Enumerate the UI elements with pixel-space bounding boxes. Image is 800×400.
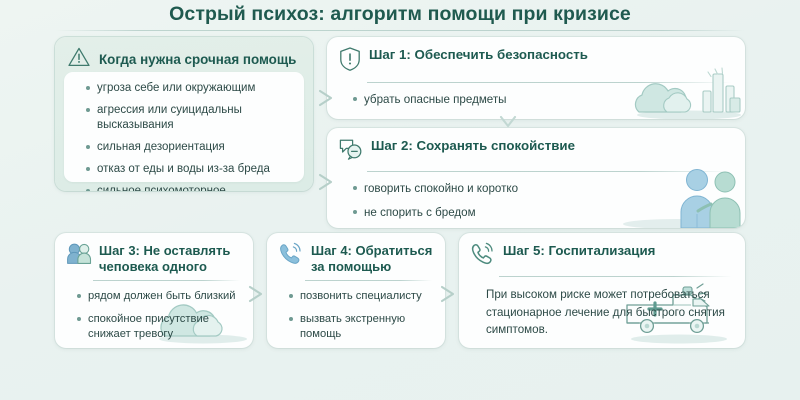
list-item: убрать опасные предметы <box>353 92 733 107</box>
urgent-help-panel: Когда нужна срочная помощь угроза себе и… <box>55 37 313 191</box>
arrow-step1-to-step2 <box>497 114 519 131</box>
list-item: угроза себе или окружающим <box>86 81 294 96</box>
list-item: ограничить доступ к окнам и лекарствам <box>353 116 733 119</box>
step1-title: Шаг 1: Обеспечить безопасность <box>369 46 588 63</box>
warning-triangle-icon <box>67 46 91 73</box>
step5-title: Шаг 5: Госпитализация <box>503 242 655 259</box>
phone-ringing-teal-icon <box>470 242 496 271</box>
step1-list: убрать опасные предметы ограничить досту… <box>327 83 745 119</box>
step2-list: говорить спокойно и коротко не спорить с… <box>327 172 745 228</box>
step4-card: Шаг 4: Обратиться за помощью позвонить с… <box>267 233 445 348</box>
arrow-urgent-to-step2 <box>316 172 340 192</box>
arrow-urgent-to-step1 <box>316 88 340 108</box>
step3-list: рядом должен быть близкий спокойное прис… <box>55 281 253 348</box>
list-item: рядом должен быть близкий <box>77 289 243 304</box>
arrow-step4-to-step5 <box>438 284 462 304</box>
step3-card: Шаг 3: Не оставлять чеповека одного рядо… <box>55 233 253 348</box>
urgent-help-list: угроза себе или окружающим агрессия или … <box>64 72 304 191</box>
step4-header: Шаг 4: Обратиться за помощью <box>267 233 445 280</box>
list-item: сильная дезориентация <box>86 140 294 155</box>
step2-card: Шаг 2: Сохранять спокойствие говорить сп… <box>327 128 745 228</box>
step5-header: Шаг 5: Госпитализация <box>459 233 745 276</box>
page-title: Острый психоз: алгоритм помощи при кризи… <box>0 3 800 26</box>
title-divider <box>55 30 745 31</box>
step4-title: Шаг 4: Обратиться за помощью <box>311 242 433 275</box>
step3-header: Шаг 3: Не оставлять чеповека одного <box>55 233 253 280</box>
arrow-step3-to-step4 <box>246 284 270 304</box>
list-item: говорить спокойно и коротко <box>353 181 733 196</box>
step1-card: Шаг 1: Обеспечить безопасность убрать оп… <box>327 37 745 119</box>
infographic-canvas: Острый психоз: алгоритм помощи при кризи… <box>0 0 800 400</box>
phone-ringing-blue-icon <box>278 242 304 271</box>
list-item: спокойное присутствие снижает тревогу <box>77 312 243 341</box>
list-item: отказ от еды и воды из-за бреда <box>86 162 294 177</box>
list-item: вызвать экстренную помощь <box>289 312 435 341</box>
step1-header: Шаг 1: Обеспечить безопасность <box>327 37 745 82</box>
step2-header: Шаг 2: Сохранять спокойствие <box>327 128 745 171</box>
list-item: позвонить специалисту <box>289 289 435 304</box>
step2-title: Шаг 2: Сохранять спокойствие <box>371 137 575 154</box>
two-persons-icon <box>66 242 92 271</box>
list-item: не спорить с бредом <box>353 205 733 220</box>
urgent-help-title: Когда нужна срочная помощь <box>99 52 296 67</box>
speech-bubbles-icon <box>338 137 364 166</box>
shield-exclamation-icon <box>338 46 362 77</box>
step5-description: При высоком риске может потребоваться ст… <box>459 277 745 348</box>
urgent-help-list-box: угроза себе или окружающим агрессия или … <box>64 72 304 182</box>
list-item: агрессия или суицидальны высказывания <box>86 103 294 133</box>
step3-title: Шаг 3: Не оставлять чеповека одного <box>99 242 241 275</box>
step5-card: Шаг 5: Госпитализация При высоком риске … <box>459 233 745 348</box>
list-item: сильное психомоторное возбуждение <box>86 184 294 191</box>
step4-list: позвонить специалисту вызвать экстренную… <box>267 281 445 348</box>
